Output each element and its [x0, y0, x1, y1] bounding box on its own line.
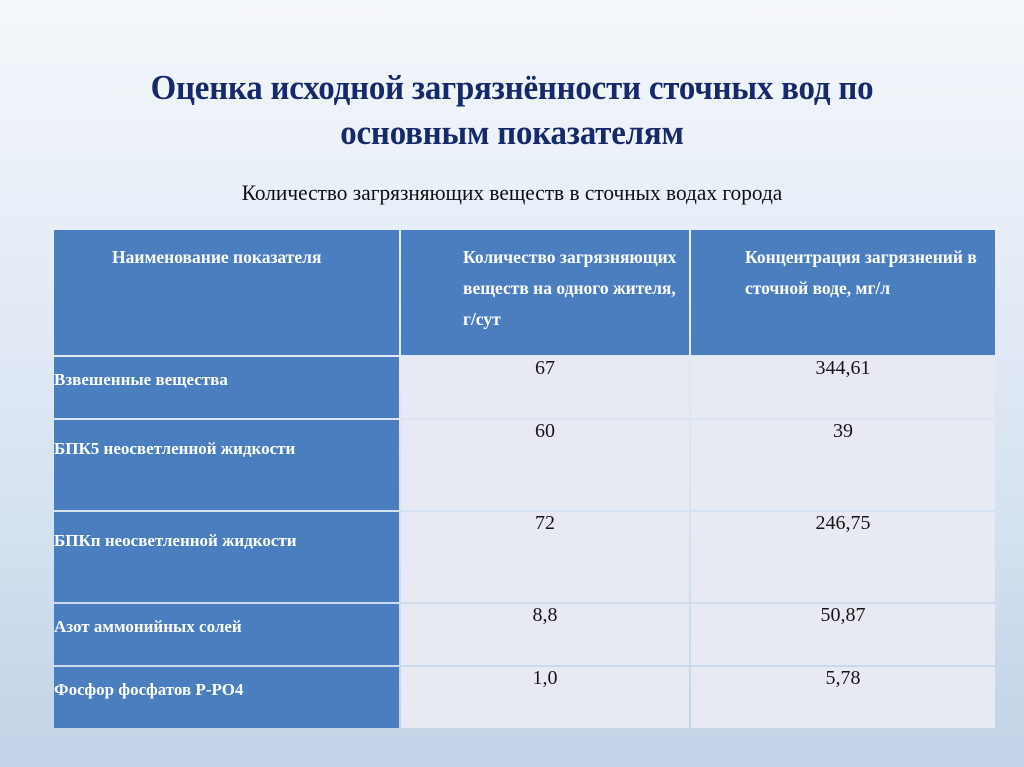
row-per-capita-cell: 1,0	[401, 667, 689, 728]
row-label: Фосфор фосфатов Р-РО4	[54, 680, 243, 699]
table-row: БПКп неосветленной жидкости 72 246,75	[54, 512, 995, 602]
table-row: Взвешенные вещества 67 344,61	[54, 357, 995, 418]
row-per-capita-value: 67	[401, 357, 689, 380]
row-per-capita-value: 1,0	[401, 667, 689, 690]
row-concentration-value: 50,87	[691, 604, 995, 627]
row-per-capita-cell: 72	[401, 512, 689, 602]
row-per-capita-value: 8,8	[401, 604, 689, 627]
title-block: Оценка исходной загрязнённости сточных в…	[62, 66, 962, 156]
row-per-capita-cell: 60	[401, 420, 689, 510]
row-per-capita-value: 60	[401, 420, 689, 443]
row-concentration-cell: 5,78	[691, 667, 995, 728]
slide-canvas: Оценка исходной загрязнённости сточных в…	[0, 0, 1024, 767]
page-title: Оценка исходной загрязнённости сточных в…	[89, 66, 935, 156]
column-header-concentration-label: Концентрация загрязнений в сточной воде,…	[691, 230, 995, 304]
row-label: БПКп неосветленной жидкости	[54, 531, 297, 550]
row-per-capita-cell: 67	[401, 357, 689, 418]
column-header-per-capita: Количество загрязняющих веществ на одног…	[401, 230, 689, 355]
column-header-concentration: Концентрация загрязнений в сточной воде,…	[691, 230, 995, 355]
row-concentration-value: 39	[691, 420, 995, 443]
row-label: БПК5 неосветленной жидкости	[54, 439, 295, 458]
table-row: Фосфор фосфатов Р-РО4 1,0 5,78	[54, 667, 995, 728]
row-concentration-value: 344,61	[691, 357, 995, 380]
subtitle-block: Количество загрязняющих веществ в сточны…	[0, 180, 1024, 206]
column-header-indicator-name-label: Наименование показателя	[54, 230, 399, 273]
row-label: Взвешенные вещества	[54, 370, 228, 389]
row-per-capita-value: 72	[401, 512, 689, 535]
column-header-indicator-name: Наименование показателя	[54, 230, 399, 355]
table-row: БПК5 неосветленной жидкости 60 39	[54, 420, 995, 510]
table-header-row: Наименование показателя Количество загря…	[54, 230, 995, 355]
column-header-per-capita-label: Количество загрязняющих веществ на одног…	[401, 230, 689, 335]
pollutants-table: Наименование показателя Количество загря…	[52, 228, 997, 730]
row-label: Азот аммонийных солей	[54, 617, 242, 636]
row-label-cell: Фосфор фосфатов Р-РО4	[54, 667, 399, 728]
row-per-capita-cell: 8,8	[401, 604, 689, 665]
table-row: Азот аммонийных солей 8,8 50,87	[54, 604, 995, 665]
row-label-cell: БПКп неосветленной жидкости	[54, 512, 399, 602]
row-label-cell: БПК5 неосветленной жидкости	[54, 420, 399, 510]
row-concentration-cell: 50,87	[691, 604, 995, 665]
row-concentration-cell: 344,61	[691, 357, 995, 418]
row-concentration-cell: 39	[691, 420, 995, 510]
page-subtitle: Количество загрязняющих веществ в сточны…	[15, 180, 1008, 206]
row-label-cell: Азот аммонийных солей	[54, 604, 399, 665]
row-concentration-value: 246,75	[691, 512, 995, 535]
pollutants-table-container: Наименование показателя Количество загря…	[52, 228, 993, 730]
row-label-cell: Взвешенные вещества	[54, 357, 399, 418]
row-concentration-value: 5,78	[691, 667, 995, 690]
row-concentration-cell: 246,75	[691, 512, 995, 602]
